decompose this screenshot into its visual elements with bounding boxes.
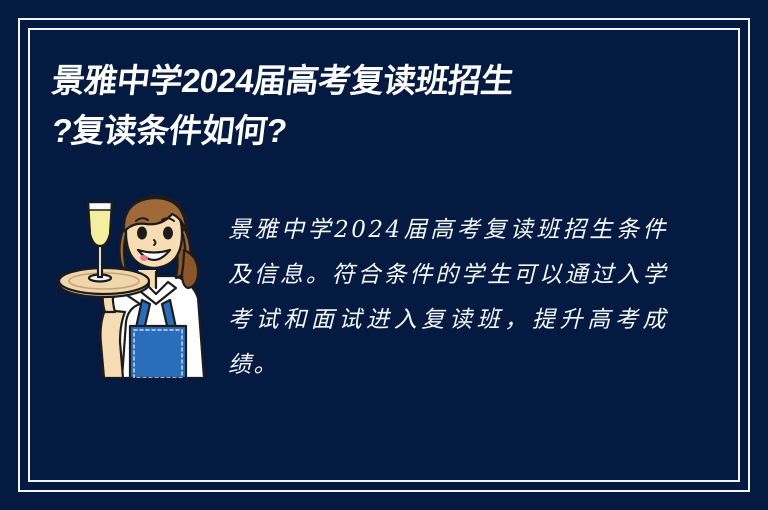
page-title-line-1: 景雅中学2024届高考复读班招生: [49, 56, 695, 106]
page-title: 景雅中学2024届高考复读班招生 ?复读条件如何?: [52, 56, 692, 156]
waitress-with-tray-illustration: [58, 188, 210, 378]
body-paragraph: 景雅中学2024届高考复读班招生条件及信息。符合条件的学生可以通过入学考试和面试…: [228, 208, 668, 388]
page-title-line-2: ?复读条件如何?: [49, 106, 695, 156]
poster-canvas: 景雅中学2024届高考复读班招生 ?复读条件如何? 景雅中学2024届高考复读班…: [0, 0, 768, 510]
